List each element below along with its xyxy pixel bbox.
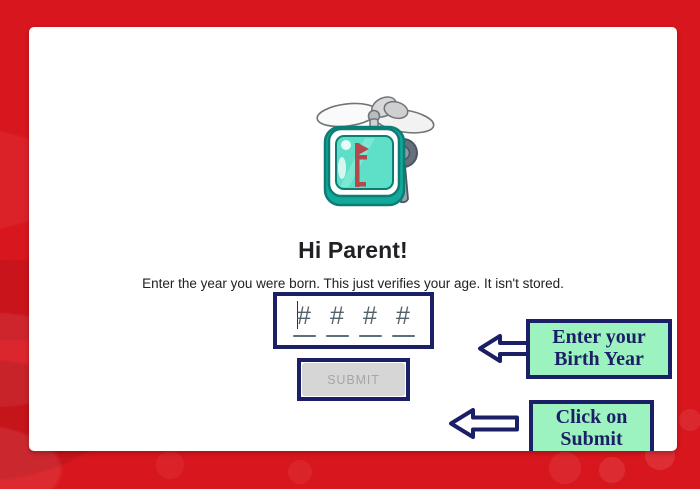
page-subtitle: Enter the year you were born. This just … [29,276,677,291]
annotation-label-line-1: Click on [556,407,628,429]
annotation-label-line-1: Enter your [552,327,646,349]
screenshot-root: Hi Parent! Enter the year you were born.… [0,0,700,489]
annotation-label-line-2: Birth Year [554,349,644,371]
annotation-arrow-left-icon [448,406,520,441]
annotation-label-submit: Click on Submit [529,400,654,451]
parental-gate-device-icon [301,83,441,215]
annotation-label-birth-year: Enter your Birth Year [526,319,672,379]
annotation-highlight-input [273,292,434,349]
annotation-highlight-submit [297,358,410,401]
parental-gate-card: Hi Parent! Enter the year you were born.… [29,27,677,451]
annotation-label-line-2: Submit [560,429,622,451]
page-title: Hi Parent! [29,237,677,264]
